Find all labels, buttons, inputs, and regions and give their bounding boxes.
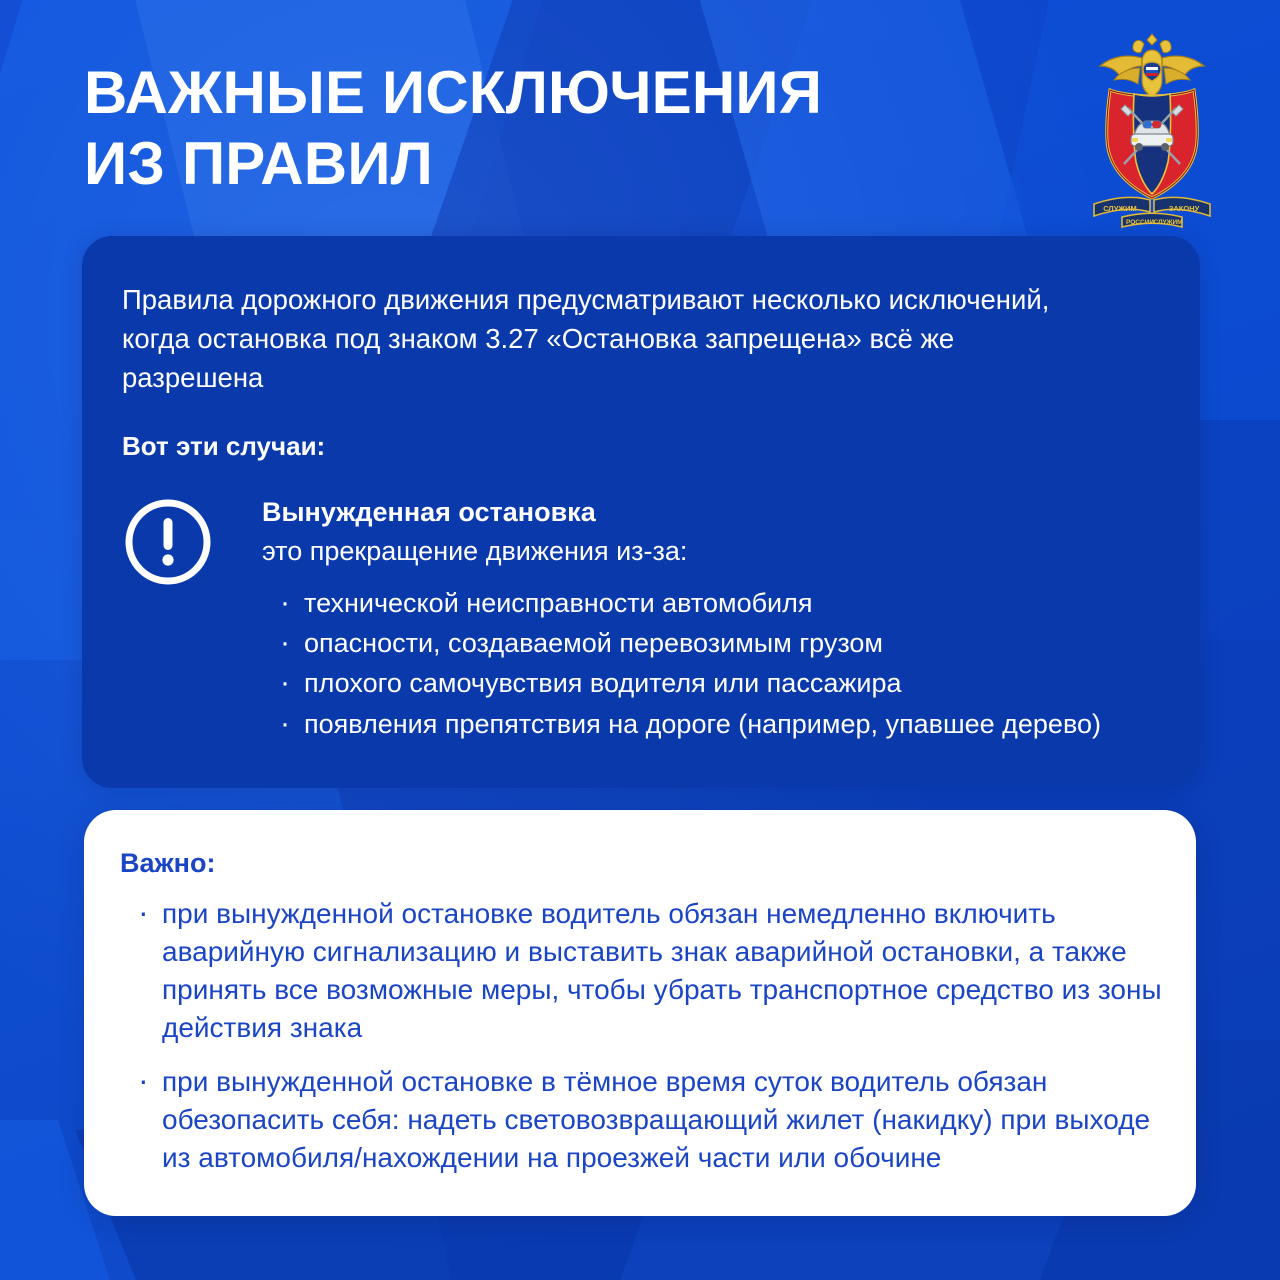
forced-stop-reasons-list: технической неисправности автомобиля опа…: [262, 585, 1154, 743]
motto-center-top: РОССИИ: [1126, 219, 1154, 226]
intro-text: Правила дорожного движения предусматрива…: [122, 280, 1082, 397]
poster-root: ВАЖНЫЕ ИСКЛЮЧЕНИЯ ИЗ ПРАВИЛ: [0, 0, 1280, 1280]
eagle-icon: [1100, 34, 1204, 96]
list-item: при вынужденной остановке водитель обяза…: [162, 895, 1162, 1047]
forced-stop-subtitle: это прекращение движения из-за:: [262, 534, 1154, 569]
poster-header: ВАЖНЫЕ ИСКЛЮЧЕНИЯ ИЗ ПРАВИЛ: [84, 58, 1044, 200]
exclamation-circle-icon: [124, 498, 212, 586]
shield-icon: [1107, 90, 1198, 198]
motto-center-bottom: СЛУЖИМ: [1153, 219, 1182, 226]
list-item: появления препятствия на дороге (наприме…: [304, 706, 1154, 743]
list-item: плохого самочувствия водителя или пассаж…: [304, 665, 1154, 702]
motto-right: ЗАКОНУ: [1169, 204, 1200, 213]
forced-stop-block: Вынужденная остановка это прекращение дв…: [122, 496, 1154, 746]
important-list: при вынужденной остановке водитель обяза…: [120, 895, 1162, 1178]
important-card: Важно: при вынужденной остановке водител…: [84, 810, 1196, 1216]
important-title: Важно:: [120, 848, 1162, 879]
motto-ribbon: СЛУЖИМ ЗАКОНУ РОССИИ СЛУЖИМ: [1094, 197, 1210, 227]
motto-left: СЛУЖИМ: [1103, 204, 1137, 213]
list-item: технической неисправности автомобиля: [304, 585, 1154, 622]
page-title: ВАЖНЫЕ ИСКЛЮЧЕНИЯ ИЗ ПРАВИЛ: [84, 58, 1044, 200]
list-item: опасности, создаваемой перевозимым грузо…: [304, 625, 1154, 662]
exceptions-card: Правила дорожного движения предусматрива…: [82, 236, 1200, 788]
cases-subheading: Вот эти случаи:: [122, 431, 1154, 462]
forced-stop-body: Вынужденная остановка это прекращение дв…: [262, 496, 1154, 746]
forced-stop-title: Вынужденная остановка: [262, 496, 1154, 530]
list-item: при вынужденной остановке в тёмное время…: [162, 1063, 1162, 1177]
gibdd-emblem-icon: СЛУЖИМ ЗАКОНУ РОССИИ СЛУЖИМ: [1076, 22, 1228, 234]
